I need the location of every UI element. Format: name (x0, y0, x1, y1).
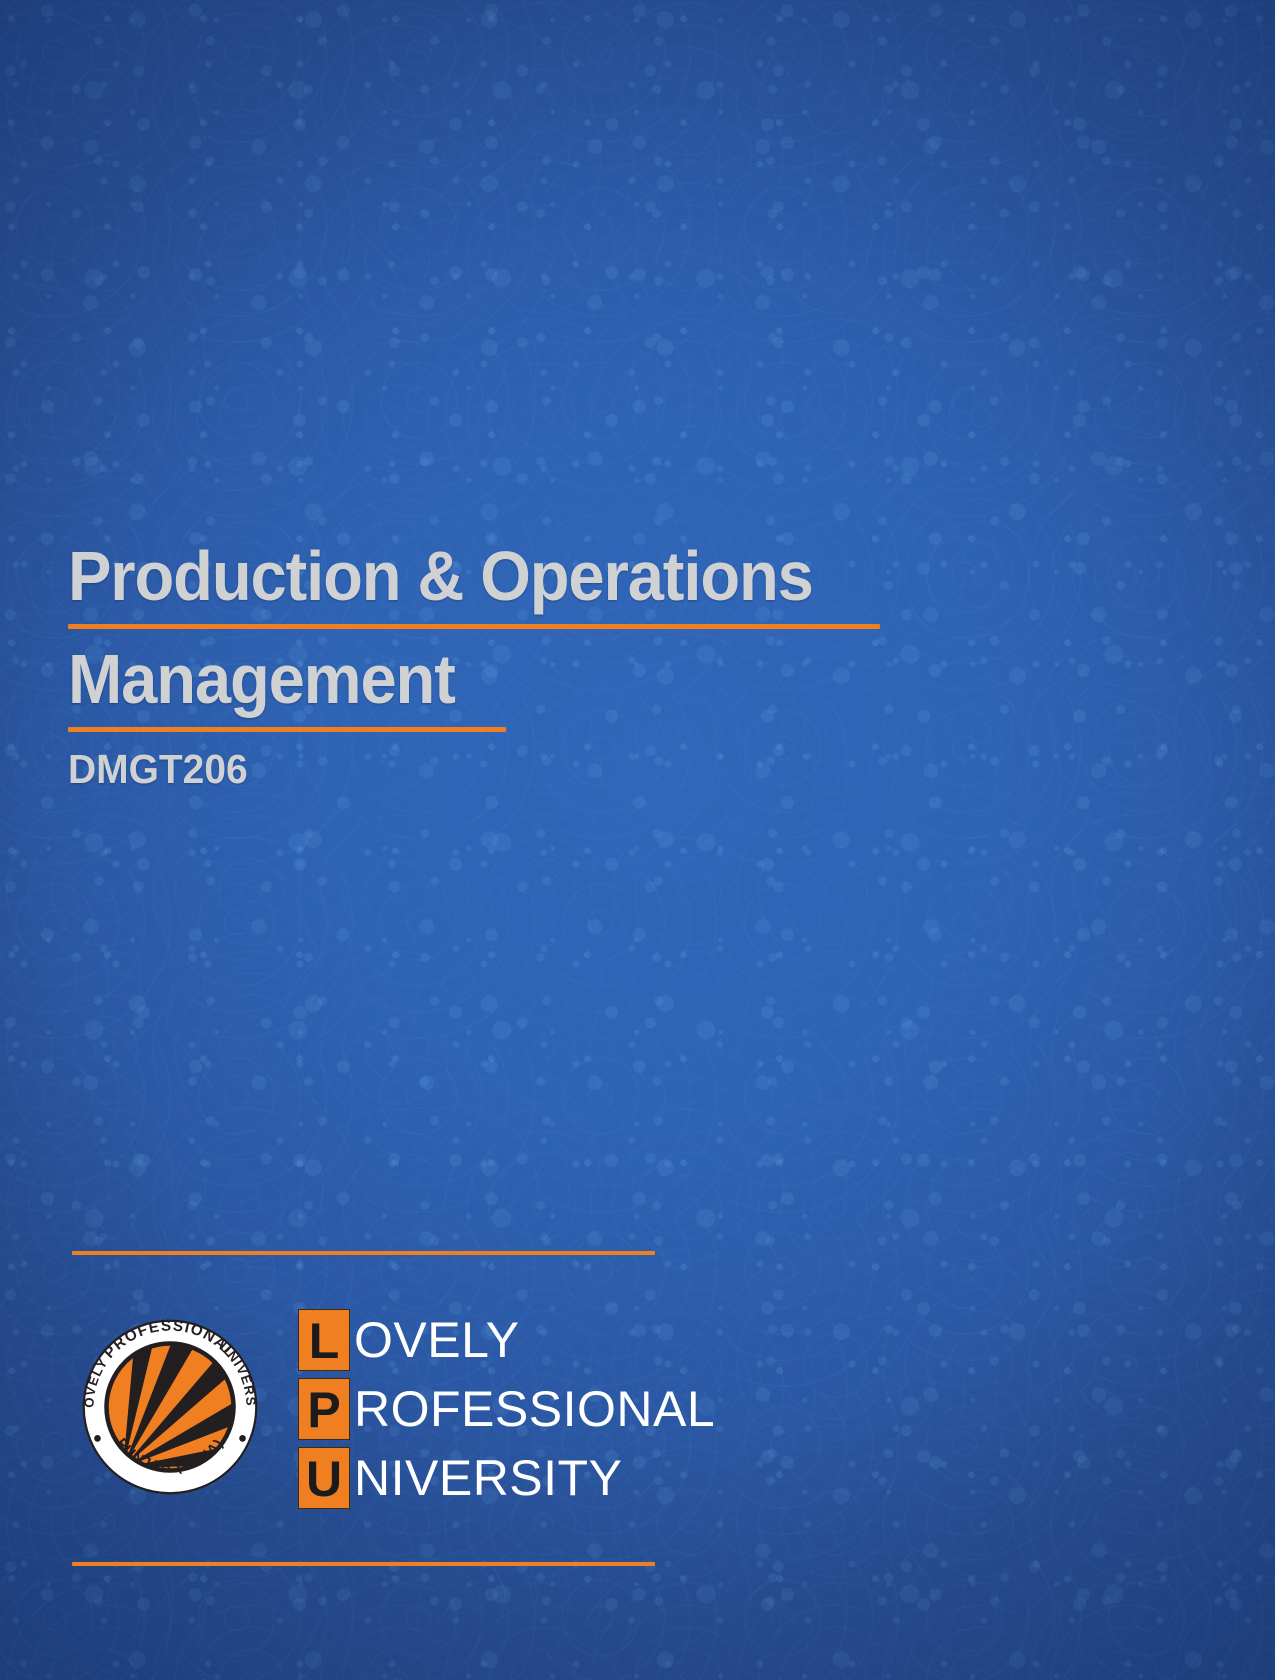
wordmark-row-lovely: L OVELY (298, 1309, 715, 1371)
course-code: DMGT206 (68, 746, 857, 793)
wordmark-row-university: U NIVERSITY (298, 1447, 715, 1509)
title-rule-2 (68, 727, 506, 732)
cover-title-block: Production & Operations Management DMGT2… (68, 540, 898, 793)
wordmark-badge-p: P (298, 1378, 350, 1440)
lpu-seal-icon: PROFESSIONAL LOVELY UNIVERSITY PUNJAB (I… (72, 1309, 268, 1505)
wordmark-badge-l: L (298, 1309, 350, 1371)
logo-rule-top (72, 1251, 655, 1255)
wordmark-badge-u: U (298, 1447, 350, 1509)
title-rule-1 (68, 624, 880, 629)
lpu-logo-area: PROFESSIONAL LOVELY UNIVERSITY PUNJAB (I… (72, 1262, 672, 1552)
title-line-1: Production & Operations (68, 540, 840, 612)
wordmark-text-lovely: OVELY (354, 1309, 520, 1371)
wordmark-text-university: NIVERSITY (354, 1447, 622, 1509)
wordmark-text-professional: ROFESSIONAL (354, 1378, 715, 1440)
logo-rule-bottom (72, 1562, 655, 1566)
wordmark-row-professional: P ROFESSIONAL (298, 1378, 715, 1440)
lpu-wordmark: L OVELY P ROFESSIONAL U NIVERSITY (298, 1305, 715, 1509)
title-line-2: Management (68, 643, 840, 715)
book-cover-page: Production & Operations Management DMGT2… (0, 0, 1275, 1680)
